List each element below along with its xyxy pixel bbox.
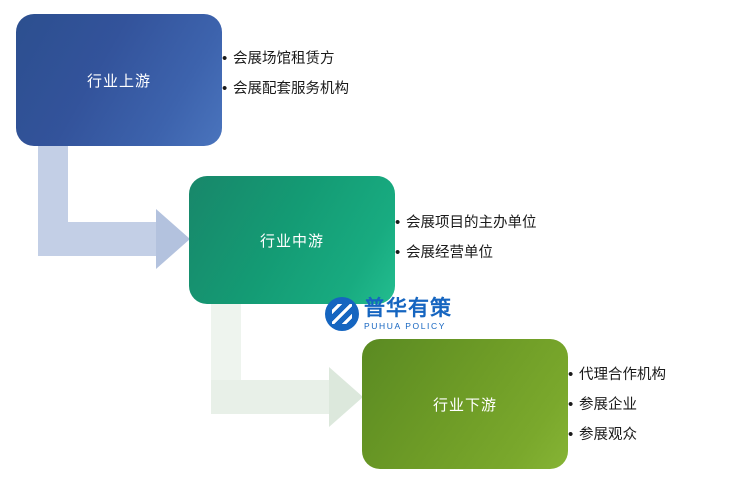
bullet-dot-icon: • bbox=[568, 360, 579, 390]
node-midstream-label: 行业中游 bbox=[260, 230, 324, 251]
list-item: •会展场馆租赁方 bbox=[222, 44, 349, 74]
bullet-dot-icon: • bbox=[395, 238, 406, 268]
list-item-label: 参展企业 bbox=[579, 397, 637, 413]
node-downstream: 行业下游 bbox=[362, 339, 568, 469]
arrow-vertical-segment bbox=[38, 146, 68, 222]
list-item-label: 代理合作机构 bbox=[579, 367, 666, 383]
watermark-logo: 普华有策 PUHUA POLICY bbox=[325, 292, 463, 336]
bullet-dot-icon: • bbox=[568, 390, 579, 420]
list-item-label: 会展场馆租赁方 bbox=[233, 51, 335, 67]
bullet-list-downstream: •代理合作机构 •参展企业 •参展观众 bbox=[568, 360, 666, 450]
diagram-canvas: 行业上游 •会展场馆租赁方 •会展配套服务机构 行业中游 •会展项目的主办单位 … bbox=[0, 0, 738, 483]
bullet-list-upstream: •会展场馆租赁方 •会展配套服务机构 bbox=[222, 44, 349, 104]
watermark-text: 普华有策 PUHUA POLICY bbox=[364, 298, 452, 331]
list-item: •参展观众 bbox=[568, 420, 666, 450]
list-item: •会展项目的主办单位 bbox=[395, 208, 537, 238]
list-item: •参展企业 bbox=[568, 390, 666, 420]
list-item-label: 会展经营单位 bbox=[406, 245, 493, 261]
list-item: •会展经营单位 bbox=[395, 238, 537, 268]
arrow-head-icon bbox=[329, 367, 363, 427]
list-item-label: 参展观众 bbox=[579, 427, 637, 443]
watermark-name-cn: 普华有策 bbox=[364, 298, 452, 319]
logo-mark-icon bbox=[325, 297, 359, 331]
bullet-list-midstream: •会展项目的主办单位 •会展经营单位 bbox=[395, 208, 537, 268]
arrow-horizontal-segment bbox=[38, 222, 156, 256]
arrow-head-icon bbox=[156, 209, 190, 269]
arrow-vertical-segment bbox=[211, 304, 241, 380]
arrow-upstream-to-midstream bbox=[38, 146, 193, 268]
node-upstream: 行业上游 bbox=[16, 14, 222, 146]
arrow-horizontal-segment bbox=[211, 380, 329, 414]
watermark-name-en: PUHUA POLICY bbox=[364, 322, 452, 331]
bullet-dot-icon: • bbox=[568, 420, 579, 450]
list-item-label: 会展配套服务机构 bbox=[233, 81, 349, 97]
bullet-dot-icon: • bbox=[395, 208, 406, 238]
bullet-dot-icon: • bbox=[222, 44, 233, 74]
node-downstream-label: 行业下游 bbox=[433, 394, 497, 415]
list-item: •会展配套服务机构 bbox=[222, 74, 349, 104]
list-item: •代理合作机构 bbox=[568, 360, 666, 390]
node-upstream-label: 行业上游 bbox=[87, 70, 151, 91]
node-midstream: 行业中游 bbox=[189, 176, 395, 304]
bullet-dot-icon: • bbox=[222, 74, 233, 104]
list-item-label: 会展项目的主办单位 bbox=[406, 215, 537, 231]
